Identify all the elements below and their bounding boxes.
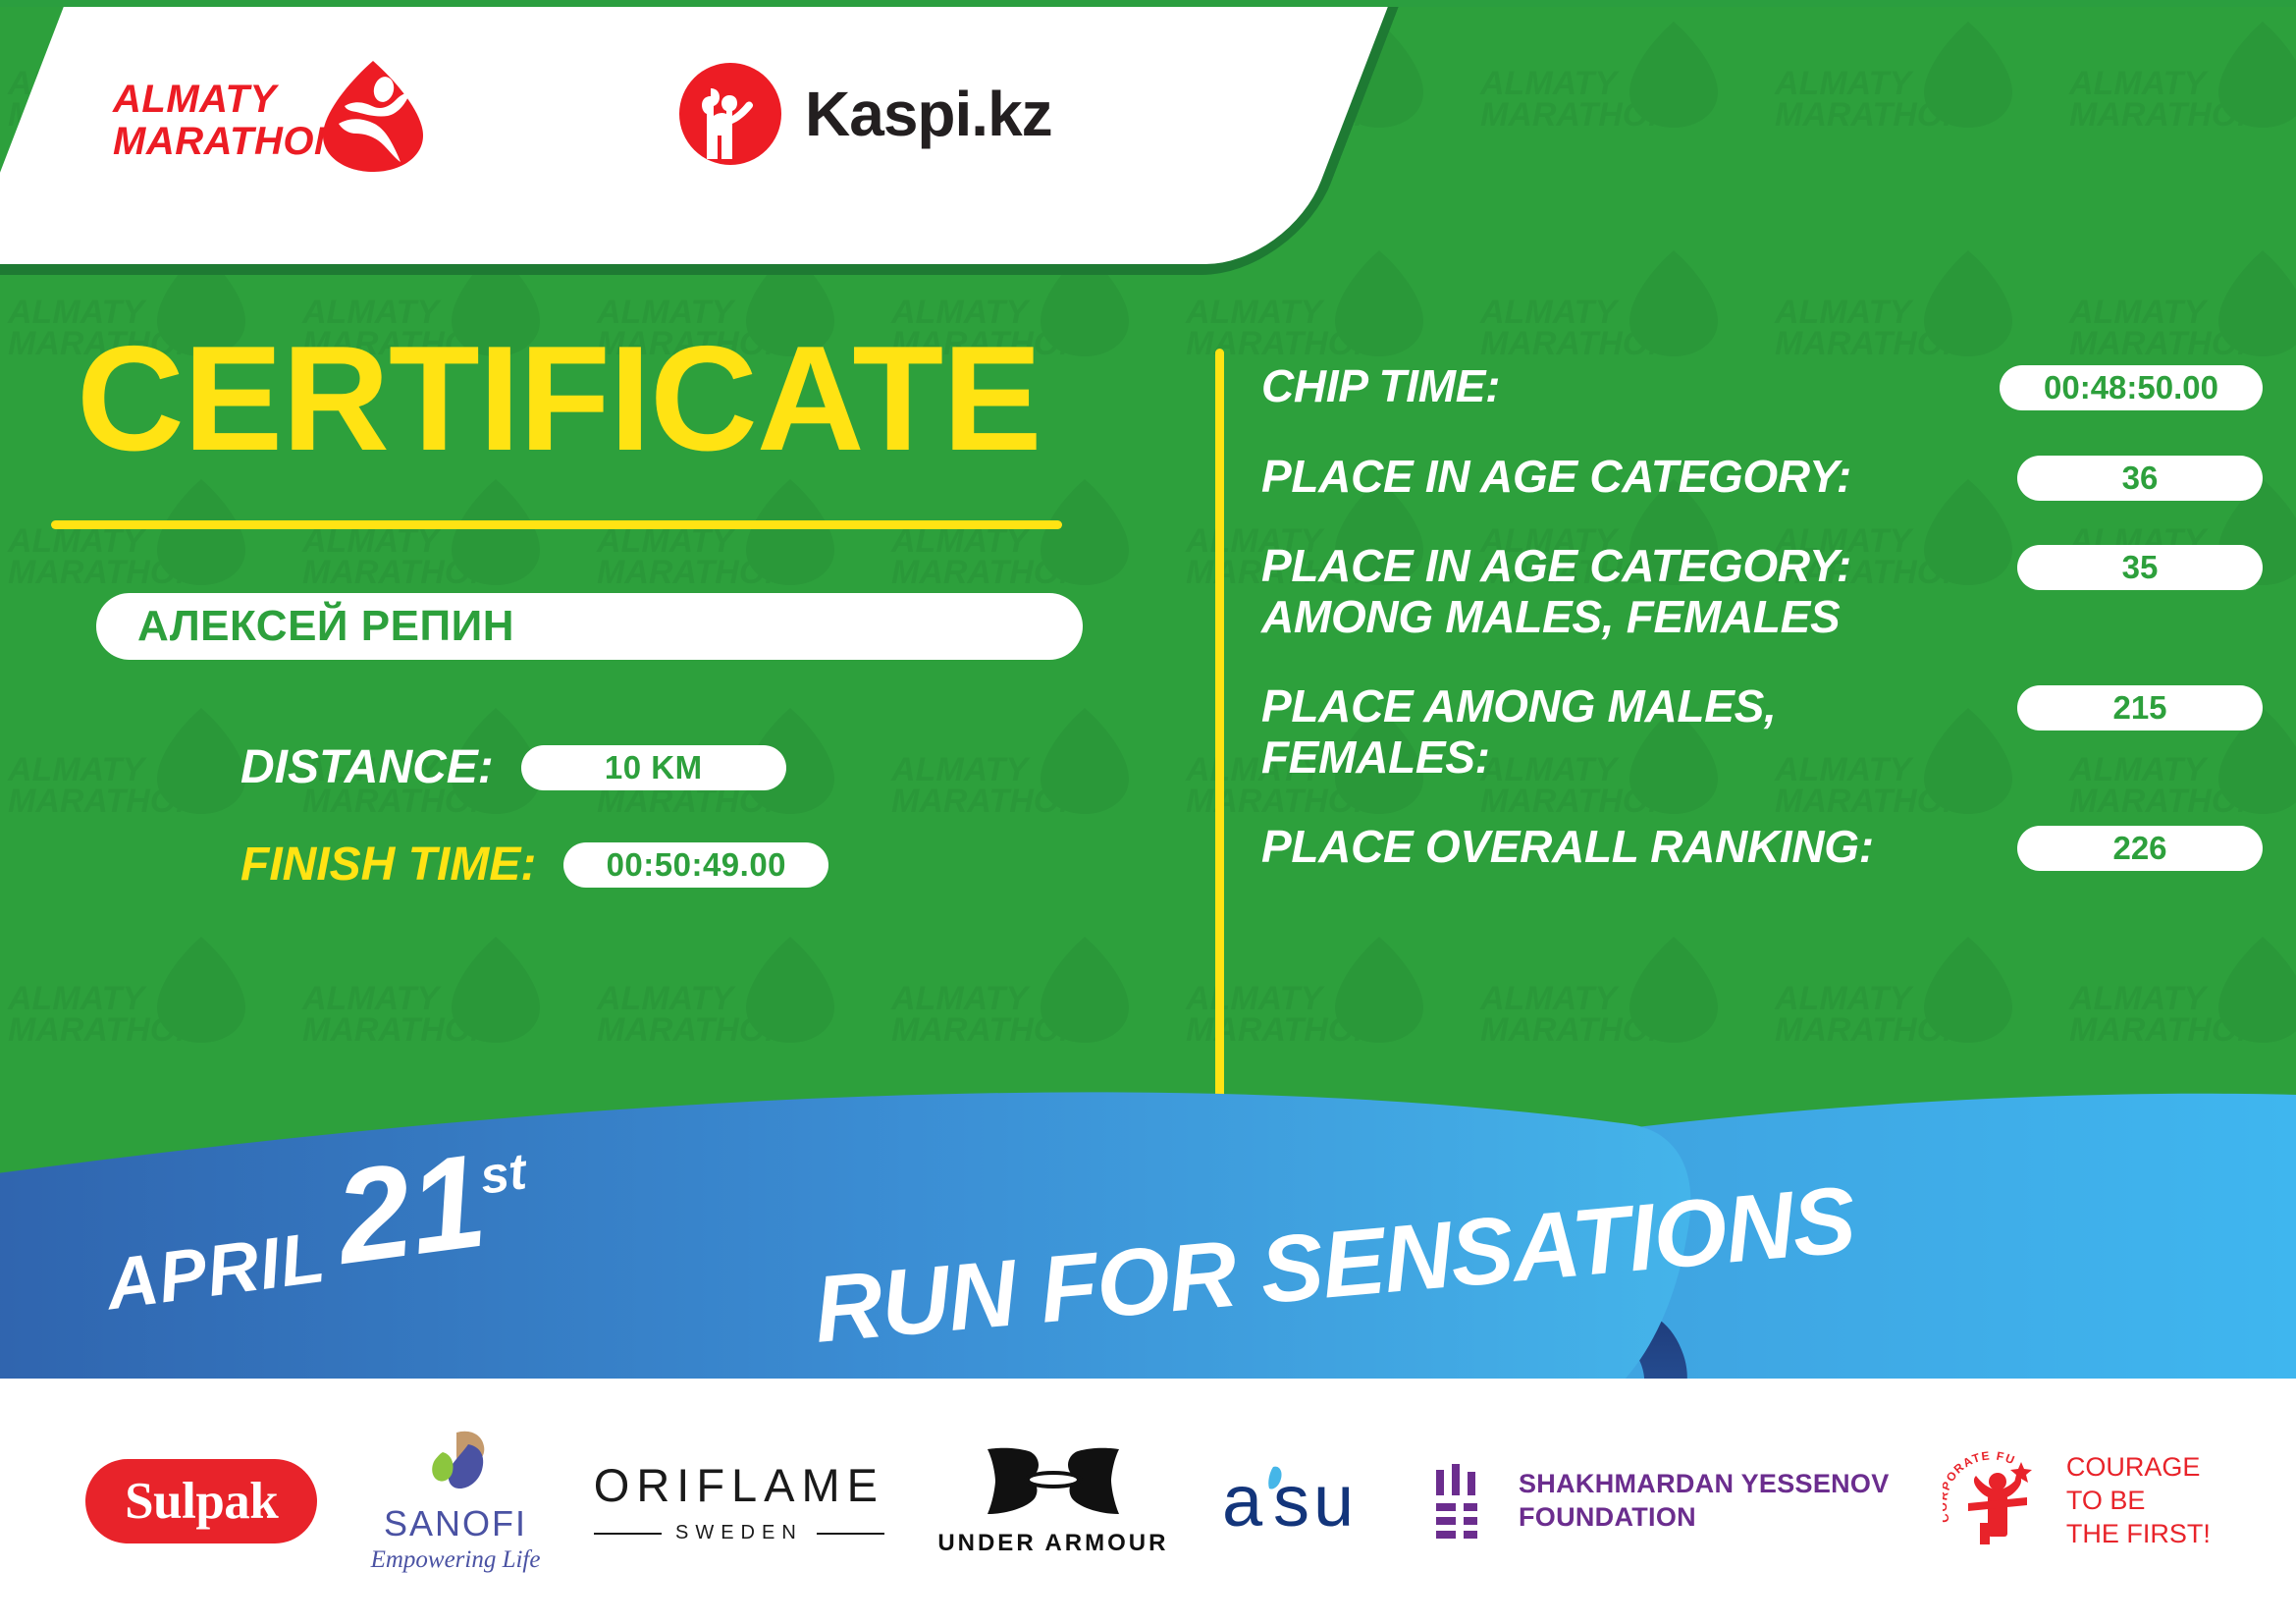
participant-name-value: АЛЕКСЕЙ РЕПИН	[137, 602, 514, 651]
sponsor-courage-fund: CORPORATE FUND COURAGE TO BE THE FIRST!	[1943, 1450, 2211, 1552]
result-row-place-age-category: PLACE IN AGE CATEGORY: 36	[1261, 452, 2263, 503]
top-green-strip	[0, 0, 2296, 7]
place-age-category-label: PLACE IN AGE CATEGORY:	[1261, 452, 1994, 503]
column-divider	[1215, 349, 1224, 1100]
oriflame-wordmark: ORIFLAME	[594, 1458, 884, 1512]
place-among-males-females-value: 215	[2112, 689, 2166, 727]
title-underline	[51, 520, 1062, 529]
sanofi-tagline: Empowering Life	[371, 1546, 541, 1574]
place-among-males-females-label: PLACE AMONG MALES, FEMALES:	[1261, 681, 1994, 783]
result-row-place-age-category-among: PLACE IN AGE CATEGORY: AMONG MALES, FEMA…	[1261, 541, 2263, 642]
place-overall-label: PLACE OVERALL RANKING:	[1261, 822, 1994, 873]
distance-label: DISTANCE:	[240, 740, 494, 794]
participant-name-field: АЛЕКСЕЙ РЕПИН	[96, 593, 1083, 660]
place-age-category-among-label: PLACE IN AGE CATEGORY: AMONG MALES, FEMA…	[1261, 541, 1994, 642]
results-column: CHIP TIME: 00:48:50.00 PLACE IN AGE CATE…	[1261, 361, 2263, 873]
kaspi-logo: Kaspi.kz	[677, 61, 1052, 167]
svg-text:a: a	[1222, 1461, 1263, 1542]
yessenov-wordmark: SHAKHMARDAN YESSENOV FOUNDATION	[1519, 1468, 1890, 1535]
courage-line2: TO BE	[2066, 1485, 2211, 1518]
oriflame-rule-right	[817, 1533, 884, 1535]
almaty-marathon-drop-runner-icon	[319, 57, 427, 175]
place-overall-value: 226	[2112, 830, 2166, 867]
yessenov-mark-icon	[1432, 1462, 1493, 1541]
left-column: CERTIFICATE АЛЕКСЕЙ РЕПИН DISTANCE: 10 K…	[0, 324, 1178, 892]
courage-line3: THE FIRST!	[2066, 1518, 2211, 1551]
place-overall-value-pill: 226	[2017, 826, 2263, 871]
event-day: 21	[330, 1140, 492, 1277]
page-title: CERTIFICATE	[77, 324, 1178, 473]
chip-time-value: 00:48:50.00	[2044, 369, 2218, 406]
sponsor-under-armour: UNDER ARMOUR	[937, 1445, 1168, 1557]
result-row-chip-time: CHIP TIME: 00:48:50.00	[1261, 361, 2263, 412]
under-armour-logo-icon	[980, 1445, 1127, 1522]
chip-time-label: CHIP TIME:	[1261, 361, 1976, 412]
sponsor-footer: Sulpak SANOFI Empowering Life ORIFLAME S…	[0, 1379, 2296, 1624]
yessenov-line1: SHAKHMARDAN YESSENOV	[1519, 1468, 1890, 1501]
finish-time-value-pill: 00:50:49.00	[563, 842, 828, 888]
distance-row: DISTANCE: 10 KM	[240, 740, 1178, 794]
result-row-place-among-males-females: PLACE AMONG MALES, FEMALES: 215	[1261, 681, 2263, 783]
kaspi-wordmark: Kaspi.kz	[805, 78, 1052, 150]
finish-time-row: FINISH TIME: 00:50:49.00	[240, 838, 1178, 892]
sponsor-sulpak: Sulpak	[85, 1459, 317, 1543]
sanofi-mark-icon	[417, 1429, 494, 1499]
under-armour-wordmark: UNDER ARMOUR	[937, 1530, 1168, 1557]
sulpak-logo: Sulpak	[85, 1459, 317, 1543]
place-age-category-among-value-pill: 35	[2017, 545, 2263, 590]
place-age-category-value-pill: 36	[2017, 456, 2263, 501]
courage-fund-runner-icon: CORPORATE FUND	[1943, 1450, 2053, 1552]
asu-logo-icon: a s u	[1222, 1461, 1379, 1542]
chip-time-value-pill: 00:48:50.00	[2000, 365, 2263, 410]
sponsor-sanofi: SANOFI Empowering Life	[371, 1429, 541, 1574]
place-among-males-females-value-pill: 215	[2017, 685, 2263, 731]
oriflame-tagline: SWEDEN	[675, 1522, 803, 1544]
distance-value-pill: 10 KM	[521, 745, 786, 790]
finish-time-label: FINISH TIME:	[240, 838, 536, 892]
svg-text:u: u	[1313, 1461, 1354, 1542]
courage-line1: COURAGE	[2066, 1451, 2211, 1485]
almaty-marathon-logo: ALMATY MARATHON	[113, 67, 427, 194]
event-day-ordinal: st	[477, 1142, 530, 1207]
oriflame-rule-left	[594, 1533, 662, 1535]
sponsor-oriflame: ORIFLAME SWEDEN	[594, 1458, 884, 1544]
finish-time-value: 00:50:49.00	[607, 846, 786, 884]
courage-fund-wordmark: COURAGE TO BE THE FIRST!	[2066, 1451, 2211, 1550]
oriflame-sub: SWEDEN	[594, 1522, 884, 1544]
sanofi-wordmark: SANOFI	[384, 1503, 527, 1544]
result-row-place-overall: PLACE OVERALL RANKING: 226	[1261, 822, 2263, 873]
sponsor-yessenov-foundation: SHAKHMARDAN YESSENOV FOUNDATION	[1432, 1462, 1890, 1541]
distance-value: 10 KM	[605, 749, 703, 786]
sponsor-asu: a s u	[1222, 1461, 1379, 1542]
kaspi-people-circle-icon	[677, 61, 783, 167]
place-age-category-value: 36	[2122, 460, 2159, 497]
certificate-canvas: ALMATY MARATHON Kaspi.kz CERTIFICATE АЛЕ…	[0, 0, 2296, 1624]
place-age-category-among-value: 35	[2122, 549, 2159, 586]
yessenov-line2: FOUNDATION	[1519, 1501, 1890, 1535]
header-content: ALMATY MARATHON Kaspi.kz	[0, 0, 1178, 275]
